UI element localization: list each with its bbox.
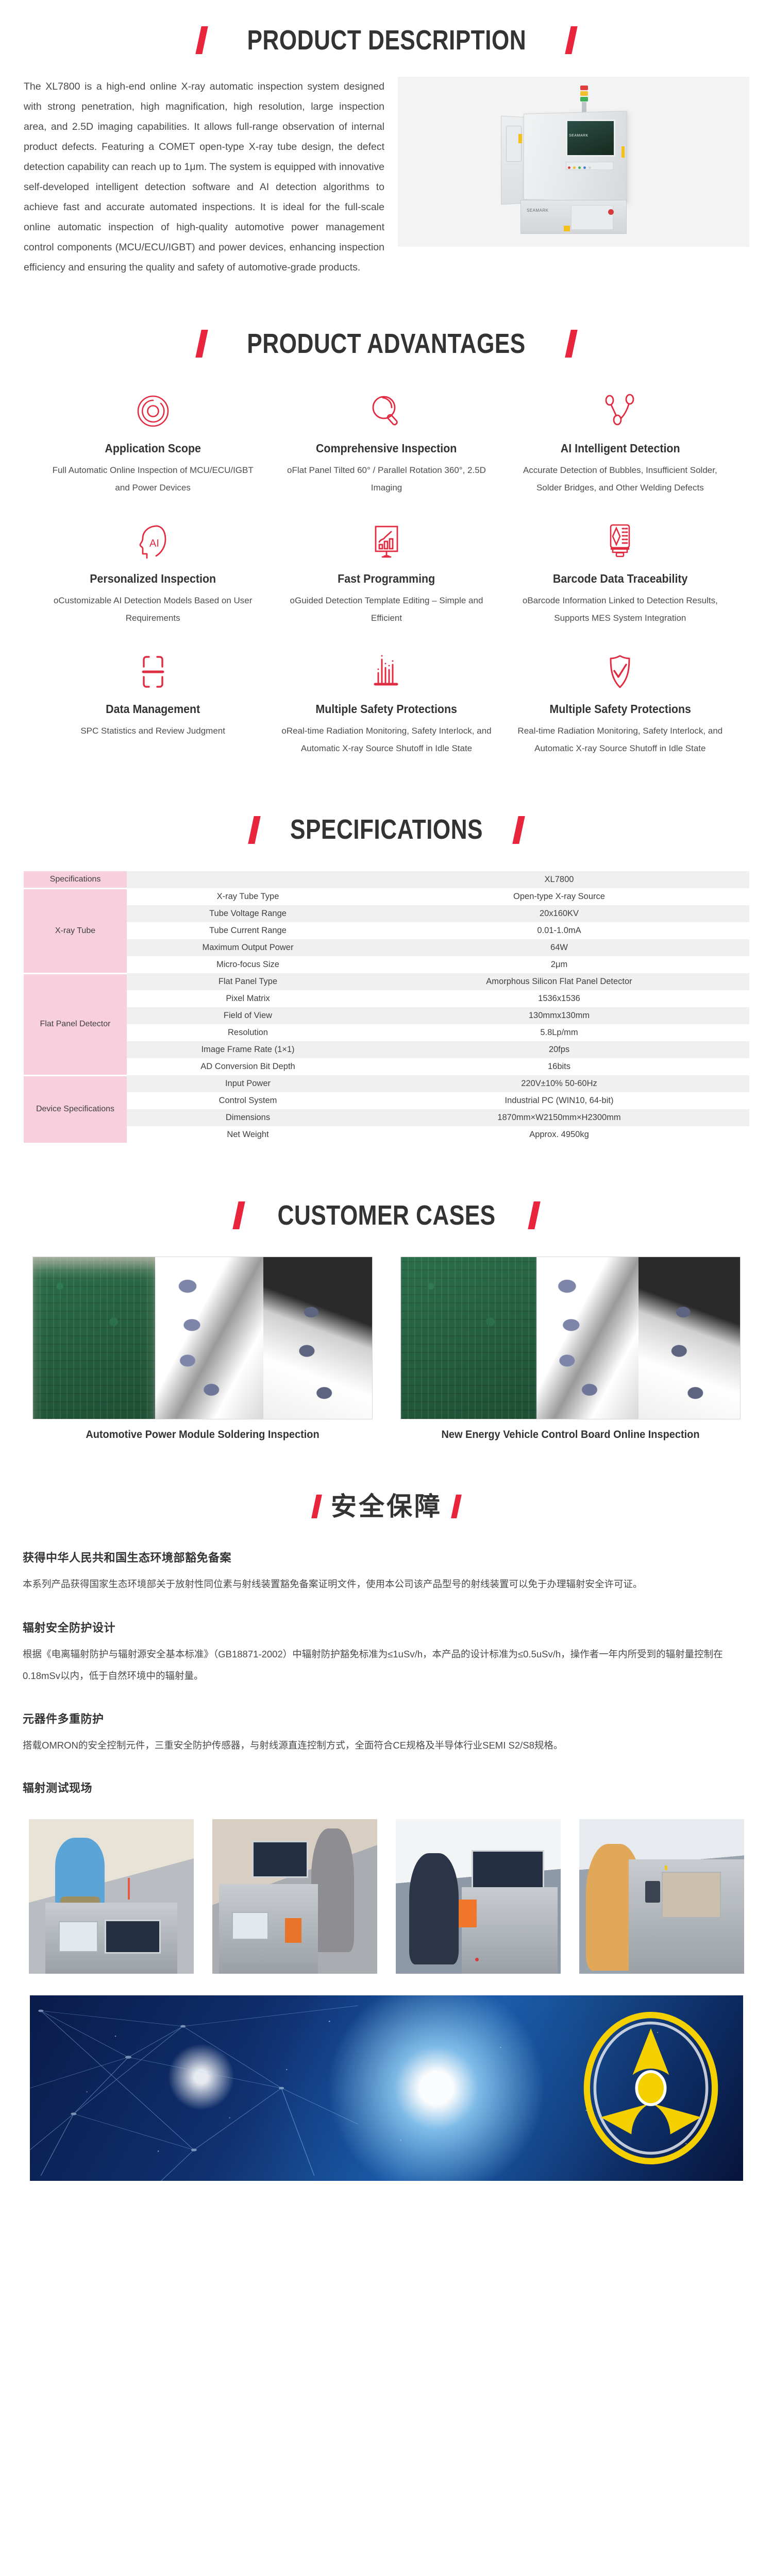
spec-value: 20fps [369, 1041, 749, 1058]
page-title: PRODUCT DESCRIPTION [247, 26, 526, 55]
customer-cases: Automotive Power Module Soldering Inspec… [0, 1257, 773, 1444]
spec-header-key [127, 871, 369, 888]
description-paragraph: The XL7800 is a high-end online X-ray au… [24, 77, 384, 278]
spec-category: Device Specifications [24, 1075, 127, 1143]
description-block: The XL7800 is a high-end online X-ray au… [0, 77, 773, 278]
tower-lamp-red-icon [580, 86, 588, 90]
table-row: Net Weight Approx. 4950kg [24, 1126, 749, 1143]
slash-left-icon [232, 1201, 245, 1229]
advantage-desc: Real-time Radiation Monitoring, Safety I… [515, 722, 726, 757]
safety-block-filing: 获得中华人民共和国生态环境部豁免备案 本系列产品获得国家生态环境部关于放射性同位… [0, 1549, 773, 1595]
tower-lamp-green-icon [580, 97, 588, 101]
safety-block-radiation-design: 辐射安全防护设计 根据《电离辐射防护与辐射源安全基本标准》（GB18871-20… [0, 1619, 773, 1686]
spec-value: Open-type X-ray Source [369, 888, 749, 905]
data-frame-icon [47, 650, 258, 694]
case-item[interactable]: New Energy Vehicle Control Board Online … [400, 1257, 741, 1444]
advantage-card[interactable]: Multiple Safety Protections oReal-time R… [270, 650, 503, 757]
slash-right-icon [565, 330, 577, 358]
site-photo-3 [396, 1819, 561, 1974]
advantage-desc: Full Automatic Online Inspection of MCU/… [47, 462, 258, 497]
slash-left-icon [248, 816, 260, 844]
advantage-desc: SPC Statistics and Review Judgment [47, 722, 258, 740]
radiation-warning-sticker-icon [564, 226, 570, 231]
machine-handle-left [518, 134, 522, 143]
advantages-title: PRODUCT ADVANTAGES [247, 329, 526, 359]
advantage-card[interactable]: AI Intelligent Detection Accurate Detect… [503, 389, 737, 497]
spec-key: X-ray Tube Type [127, 888, 369, 905]
advantage-title: Multiple Safety Protections [289, 702, 485, 716]
site-section-title: 辐射测试现场 [23, 1779, 750, 1795]
site-photo-2 [212, 1819, 377, 1974]
safety-block-text: 搭载OMRON的安全控制元件，三重安全防护传感器，与射线源直连控制方式，全面符合… [23, 1735, 750, 1756]
spec-key: Flat Panel Type [127, 973, 369, 990]
machine-handle-right [621, 146, 625, 158]
spec-key: Field of View [127, 1007, 369, 1024]
table-header-row: Specifications XL7800 [24, 871, 749, 888]
spec-category: X-ray Tube [24, 888, 127, 973]
spec-value: Amorphous Silicon Flat Panel Detector [369, 973, 749, 990]
ai-head-icon: AI [47, 519, 258, 564]
machine-left-window [506, 126, 522, 162]
advantage-title: Barcode Data Traceability [522, 572, 718, 586]
section-heading-advantages: PRODUCT ADVANTAGES [0, 329, 773, 359]
advantage-card[interactable]: Application Scope Full Automatic Online … [36, 389, 270, 497]
table-row: Flat Panel Detector Flat Panel Type Amor… [24, 973, 749, 990]
network-mesh-decoration [30, 1995, 358, 2181]
network-nodes-icon [515, 389, 726, 433]
radiation-banner-image [30, 1995, 743, 2181]
spec-key: Dimensions [127, 1109, 369, 1126]
advantage-desc: oBarcode Information Linked to Detection… [515, 592, 726, 627]
advantage-card[interactable]: Data Management SPC Statistics and Revie… [36, 650, 270, 757]
safety-block-text: 本系列产品获得国家生态环境部关于放射性同位素与射线装置豁免备案证明文件，使用本公… [23, 1573, 750, 1595]
section-heading-cases: CUSTOMER CASES [0, 1201, 773, 1230]
advantage-card[interactable]: Barcode Data Traceability oBarcode Infor… [503, 519, 737, 627]
table-row: Tube Current Range 0.01-1.0mA [24, 922, 749, 939]
table-row: X-ray Tube X-ray Tube Type Open-type X-r… [24, 888, 749, 905]
advantage-title: Data Management [55, 702, 251, 716]
spec-value: 5.8Lp/mm [369, 1024, 749, 1041]
xray-machine-illustration: SEAMARK SEAMARK [489, 84, 659, 239]
advantage-title: Application Scope [55, 442, 251, 455]
spec-value: 220V±10% 50-60Hz [369, 1075, 749, 1092]
table-row: Pixel Matrix 1536x1536 [24, 990, 749, 1007]
slash-left-icon [195, 26, 208, 54]
spec-key: Net Weight [127, 1126, 369, 1143]
advantage-card[interactable]: Multiple Safety Protections Real-time Ra… [503, 650, 737, 757]
spec-key: Resolution [127, 1024, 369, 1041]
table-row: Image Frame Rate (1×1) 20fps [24, 1041, 749, 1058]
advantage-card[interactable]: Comprehensive Inspection oFlat Panel Til… [270, 389, 503, 497]
table-row: Resolution 5.8Lp/mm [24, 1024, 749, 1041]
safety-block-component-protection: 元器件多重防护 搭载OMRON的安全控制元件，三重安全防护传感器，与射线源直连控… [0, 1710, 773, 1756]
spec-key: Tube Voltage Range [127, 905, 369, 922]
safety-block-title: 获得中华人民共和国生态环境部豁免备案 [23, 1549, 750, 1565]
radiation-test-site-photos [0, 1819, 773, 1974]
spec-value: 16bits [369, 1058, 749, 1075]
site-photo-4 [579, 1819, 744, 1974]
barcode-scanner-icon [515, 519, 726, 564]
advantage-desc: oGuided Detection Template Editing – Sim… [281, 592, 492, 627]
section-heading-specifications: SPECIFICATIONS [0, 815, 773, 844]
spec-value: Approx. 4950kg [369, 1126, 749, 1143]
advantage-desc: oFlat Panel Tilted 60° / Parallel Rotati… [281, 462, 492, 497]
spec-key: Input Power [127, 1075, 369, 1092]
product-page: PRODUCT DESCRIPTION The XL7800 is a high… [0, 0, 773, 2199]
table-row: AD Conversion Bit Depth 16bits [24, 1058, 749, 1075]
safety-block-title: 元器件多重防护 [23, 1710, 750, 1726]
spec-category: Flat Panel Detector [24, 973, 127, 1075]
spec-value: 20x160KV [369, 905, 749, 922]
site-title-block: 辐射测试现场 [0, 1779, 773, 1795]
spec-value: 0.01-1.0mA [369, 922, 749, 939]
advantage-title: Multiple Safety Protections [522, 702, 718, 716]
machine-screen-logo: SEAMARK [569, 134, 589, 138]
table-row: Maximum Output Power 64W [24, 939, 749, 956]
table-row: Control System Industrial PC (WIN10, 64-… [24, 1092, 749, 1109]
spec-value: 1536x1536 [369, 990, 749, 1007]
spec-key: Image Frame Rate (1×1) [127, 1041, 369, 1058]
cases-title: CUSTOMER CASES [277, 1201, 495, 1230]
signal-bars-icon [281, 650, 492, 694]
spec-key: Pixel Matrix [127, 990, 369, 1007]
advantage-title: Comprehensive Inspection [289, 442, 485, 455]
case-caption: Automotive Power Module Soldering Inspec… [41, 1427, 364, 1444]
slash-right-icon [451, 1495, 462, 1518]
case-image-automotive-power-module [32, 1257, 373, 1419]
machine-door [571, 205, 613, 230]
advantages-grid: Application Scope Full Automatic Online … [0, 389, 773, 757]
chart-monitor-icon [281, 519, 492, 564]
spec-value: 1870mm×W2150mm×H2300mm [369, 1109, 749, 1126]
spec-key: Tube Current Range [127, 922, 369, 939]
table-row: Device Specifications Input Power 220V±1… [24, 1075, 749, 1092]
case-image-nev-control-board [400, 1257, 741, 1419]
shield-check-icon [515, 650, 726, 694]
slash-left-icon [311, 1495, 322, 1518]
spec-value: 130mmx130mm [369, 1007, 749, 1024]
product-machine-image: SEAMARK SEAMARK [398, 77, 749, 247]
radiation-trefoil-icon [582, 2011, 719, 2165]
table-row: Field of View 130mmx130mm [24, 1007, 749, 1024]
spec-header-value: XL7800 [369, 871, 749, 888]
advantage-title: Fast Programming [289, 572, 485, 586]
slash-right-icon [565, 26, 578, 54]
spec-key: Micro-focus Size [127, 956, 369, 973]
spec-key: Control System [127, 1092, 369, 1109]
advantage-card[interactable]: AI Personalized Inspection oCustomizable… [36, 519, 270, 627]
target-circle-icon [47, 389, 258, 433]
spec-key: Maximum Output Power [127, 939, 369, 956]
spec-value: 64W [369, 939, 749, 956]
spec-value: 2μm [369, 956, 749, 973]
machine-brand-label: SEAMARK [527, 208, 549, 213]
safety-block-title: 辐射安全防护设计 [23, 1619, 750, 1635]
safety-block-text: 根据《电离辐射防护与辐射源安全基本标准》（GB18871-2002）中辐射防护豁… [23, 1643, 750, 1686]
machine-control-strip [566, 162, 613, 170]
specifications-title: SPECIFICATIONS [290, 815, 483, 844]
slash-left-icon [196, 330, 208, 358]
case-caption: New Energy Vehicle Control Board Online … [409, 1427, 732, 1444]
spec-key: AD Conversion Bit Depth [127, 1058, 369, 1075]
spec-value: Industrial PC (WIN10, 64-bit) [369, 1092, 749, 1109]
tower-lamp-amber-icon [580, 91, 588, 96]
table-row: Micro-focus Size 2μm [24, 956, 749, 973]
table-row: Tube Voltage Range 20x160KV [24, 905, 749, 922]
advantage-card[interactable]: Fast Programming oGuided Detection Templ… [270, 519, 503, 627]
advantage-desc: Accurate Detection of Bubbles, Insuffici… [515, 462, 726, 497]
advantage-title: Personalized Inspection [55, 572, 251, 586]
table-row: Dimensions 1870mm×W2150mm×H2300mm [24, 1109, 749, 1126]
slash-right-icon [512, 816, 525, 844]
section-heading-description: PRODUCT DESCRIPTION [0, 26, 773, 55]
advantage-title: AI Intelligent Detection [522, 442, 718, 455]
emergency-stop-button[interactable] [608, 209, 614, 215]
svg-text:AI: AI [149, 538, 159, 549]
case-item[interactable]: Automotive Power Module Soldering Inspec… [32, 1257, 373, 1444]
magnifier-icon [281, 389, 492, 433]
slash-right-icon [528, 1201, 540, 1229]
site-photo-1 [29, 1819, 194, 1974]
safety-title: 安全保障 [331, 1493, 442, 1520]
specifications-table: Specifications XL7800 X-ray Tube X-ray T… [24, 871, 749, 1144]
advantage-desc: oCustomizable AI Detection Models Based … [47, 592, 258, 627]
spec-header-category: Specifications [24, 871, 127, 888]
section-heading-safety: 安全保障 [0, 1493, 773, 1520]
advantage-desc: oReal-time Radiation Monitoring, Safety … [281, 722, 492, 757]
machine-screen [566, 120, 615, 157]
